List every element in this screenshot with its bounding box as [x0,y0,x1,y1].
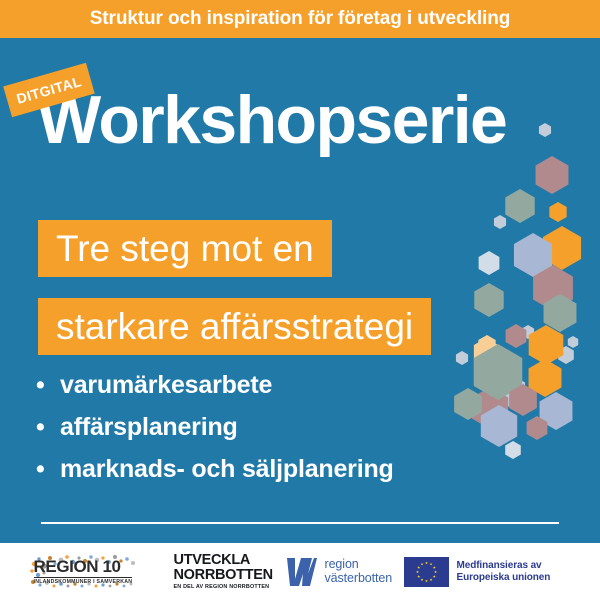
date-item-2: 16 oktober [167,542,302,543]
subtitle-line-1-text: Tre steg mot en [56,230,314,267]
logo-utveckla-norrbotten: UTVECKLA NORRBOTTEN EN DEL AV REGION NOR… [174,552,286,592]
utveckla-tagline: EN DEL AV REGION NORRBOTTEN [174,585,270,590]
list-item-label: marknads- och säljplanering [60,455,394,484]
footer-logo-strip: REGION 10 INLANDSKOMMUNER I SAMVERKAN UT… [0,543,600,600]
eu-funding-line-1: Medfinansieras av [457,560,551,572]
poster-canvas: Struktur och inspiration för företag i u… [0,0,600,600]
topic-list: • varumärkesarbete • affärsplanering • m… [36,371,394,497]
eu-funding-line-2: Europeiska unionen [457,572,551,584]
bullet-marker-icon: • [36,373,60,398]
region-10-tagline: INLANDSKOMMUNER I SAMVERKAN [34,577,133,585]
list-item-label: affärsplanering [60,413,238,442]
vasterbotten-line-1: region [325,558,393,572]
list-item: • varumärkesarbete [36,371,394,413]
region-10-name: REGION 10 [34,558,133,575]
date-item-1: 9 oktober [41,542,167,543]
list-item: • affärsplanering [36,413,394,455]
dates-row: 9 oktober 16 oktober 23 oktober kl. 8:30… [41,538,559,543]
top-banner-text: Struktur och inspiration för företag i u… [90,8,511,30]
top-banner: Struktur och inspiration för företag i u… [0,0,600,38]
bullet-marker-icon: • [36,457,60,482]
time-item: kl. 8:30-12 [433,542,559,543]
vasterbotten-line-2: västerbotten [325,572,393,586]
logo-eu-funding: Medfinansieras av Europeiska unionen [404,552,579,592]
subtitle-box-line-2: starkare affärsstrategi [38,298,431,355]
date-item-3: 23 oktober [302,542,433,543]
bullet-marker-icon: • [36,415,60,440]
utveckla-line-2: NORRBOTTEN [174,568,273,583]
utveckla-line-1: UTVECKLA [174,553,251,568]
list-item: • marknads- och säljplanering [36,455,394,497]
vasterbotten-mark-icon [286,557,318,587]
list-item-label: varumärkesarbete [60,371,272,400]
logo-region-10: REGION 10 INLANDSKOMMUNER I SAMVERKAN [22,552,174,592]
horizontal-divider [41,522,559,524]
logo-region-vasterbotten: region västerbotten [286,552,404,592]
poster-body: DITGITAL Workshopserie Tre steg mot en s… [0,38,600,543]
subtitle-box-line-1: Tre steg mot en [38,220,332,277]
subtitle-line-2-text: starkare affärsstrategi [56,308,413,345]
page-title: Workshopserie [37,86,506,154]
eu-flag-icon [404,557,449,587]
